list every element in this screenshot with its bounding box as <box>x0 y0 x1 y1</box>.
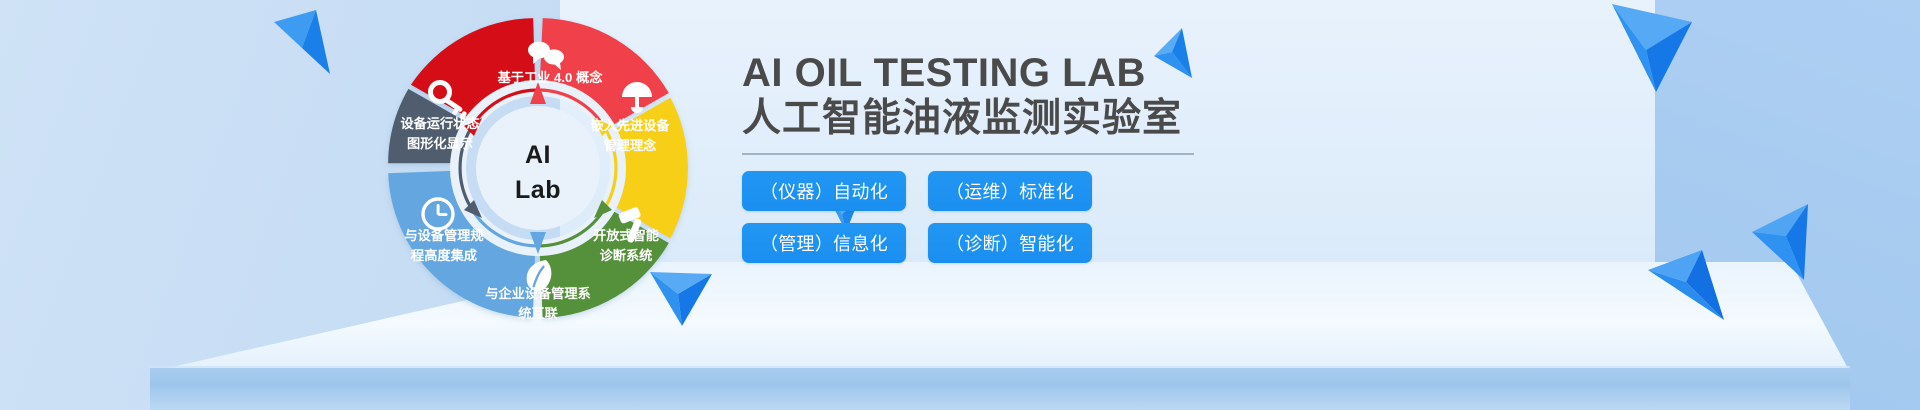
wheel-label-integration-line2: 程高度集成 <box>411 247 477 263</box>
wheel-label-embedded-line1: 嵌入先进设备 <box>590 117 670 133</box>
hero-banner: AI Lab <box>0 0 1920 410</box>
wheel-center-line2: Lab <box>515 176 561 204</box>
wheel-label-embedded-line2: 管理理念 <box>604 137 658 153</box>
wheel-label-integration-line1: 与设备管理规 <box>404 227 483 243</box>
wheel-label-status-line2: 图形化显示 <box>407 135 473 151</box>
wheel-label-diagnosis-line1: 开放式智能 <box>593 227 659 243</box>
title-english: AI OIL TESTING LAB <box>742 52 1542 94</box>
headline-divider <box>742 153 1194 155</box>
triangle-top-right-large <box>1606 0 1698 96</box>
wheel-label-diagnosis-line2: 诊断系统 <box>600 247 653 263</box>
title-chinese: 人工智能油液监测实验室 <box>742 96 1542 142</box>
pedestal-front-face <box>150 368 1850 410</box>
headline-block: AI OIL TESTING LAB 人工智能油液监测实验室 （仪器）自动化 （… <box>742 52 1542 263</box>
feature-pill-operations[interactable]: （运维）标准化 <box>928 171 1092 211</box>
feature-pill-management[interactable]: （管理）信息化 <box>742 223 906 263</box>
triangle-bottom-right <box>1644 248 1732 332</box>
ai-lab-wheel-infographic: AI Lab <box>378 8 698 328</box>
feature-pill-grid: （仪器）自动化 （运维）标准化 （管理）信息化 （诊断）智能化 <box>742 171 1102 263</box>
wheel-label-interconnect-line2: 统互联 <box>518 305 558 321</box>
feature-pill-instrument[interactable]: （仪器）自动化 <box>742 171 906 211</box>
triangle-top-left <box>272 8 334 76</box>
wheel-label-concept-line1: 基于工业 4.0 概念 <box>497 69 604 85</box>
wheel-label-status-line1: 设备运行状态 <box>400 115 480 131</box>
wheel-center-line1: AI <box>525 141 551 169</box>
triangle-mid-right <box>1748 202 1826 284</box>
feature-pill-diagnosis[interactable]: （诊断）智能化 <box>928 223 1092 263</box>
wheel-label-interconnect-line1: 与企业设备管理系 <box>485 285 591 301</box>
